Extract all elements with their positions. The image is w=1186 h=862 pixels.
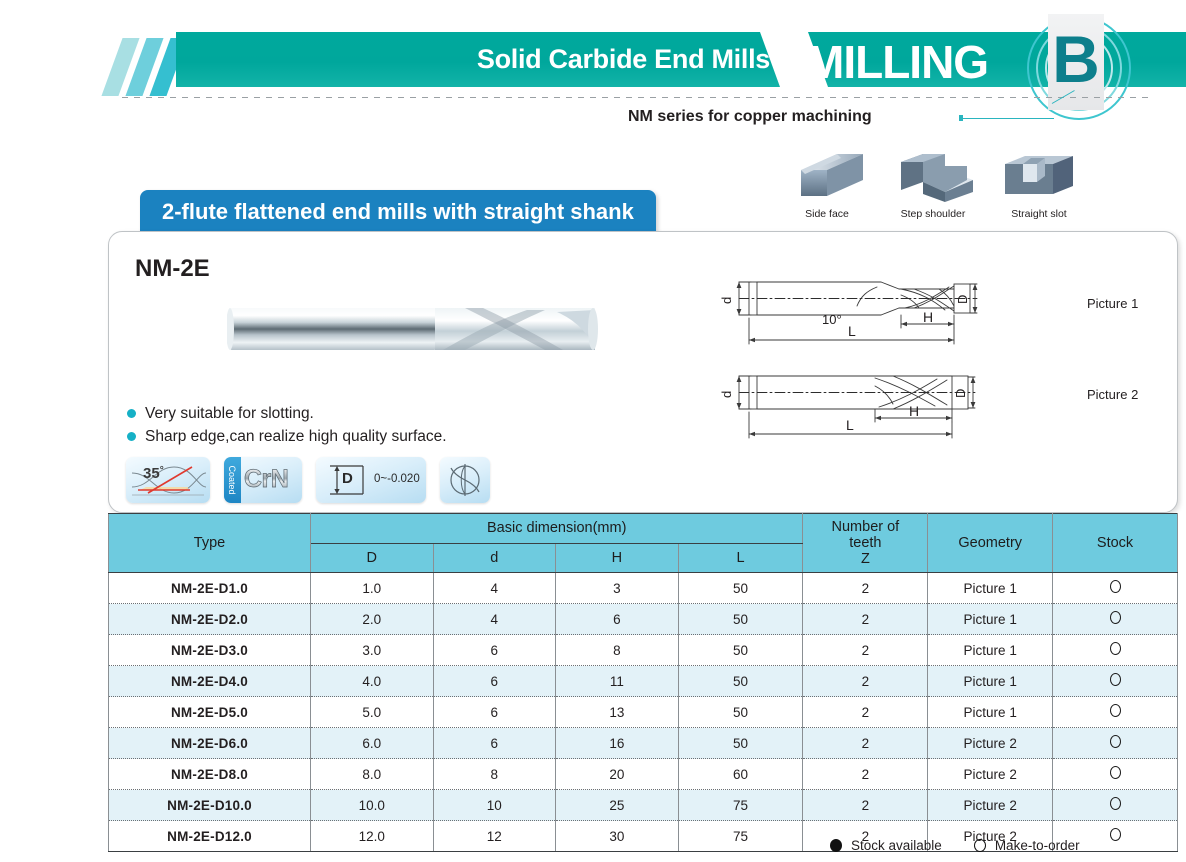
cell-d: 6: [433, 697, 556, 728]
cell-d: 10: [433, 790, 556, 821]
cell-D: 6.0: [310, 728, 433, 759]
cell-D: 12.0: [310, 821, 433, 852]
table-row[interactable]: NM-2E-D5.0 5.0 6 13 50 2 Picture 1: [109, 697, 1178, 728]
cell-L: 50: [678, 697, 803, 728]
cell-H: 30: [556, 821, 679, 852]
drawing-label-L: L: [846, 417, 854, 433]
cell-Z: 2: [803, 697, 928, 728]
application-label: Straight slot: [997, 208, 1081, 220]
step-shoulder-icon: [891, 152, 975, 206]
feature-text: Very suitable for slotting.: [145, 405, 314, 423]
cell-stock: [1053, 604, 1178, 635]
header-subtitle: NM series for copper machining: [628, 108, 872, 126]
application-icons: Side face Step shoulder: [785, 152, 1081, 220]
cell-D: 8.0: [310, 759, 433, 790]
col-header-H: H: [556, 543, 679, 573]
cell-stock: [1053, 790, 1178, 821]
col-header-type: Type: [109, 514, 311, 573]
cell-H: 16: [556, 728, 679, 759]
teeth-symbol: Z: [861, 551, 870, 567]
make-to-order-icon: [1110, 673, 1121, 686]
cell-d: 4: [433, 573, 556, 604]
make-to-order-icon: [1110, 580, 1121, 593]
cell-geometry: Picture 1: [928, 635, 1053, 666]
bullet-dot-icon: [127, 409, 136, 418]
cell-geometry: Picture 2: [928, 759, 1053, 790]
bullet-dot-icon: [127, 432, 136, 441]
cell-geometry: Picture 1: [928, 604, 1053, 635]
cell-Z: 2: [803, 573, 928, 604]
section-tab-letter: B: [1048, 26, 1104, 92]
col-header-d: d: [433, 543, 556, 573]
col-header-D: D: [310, 543, 433, 573]
cell-geometry: Picture 2: [928, 728, 1053, 759]
cell-type: NM-2E-D12.0: [109, 821, 311, 852]
cell-L: 50: [678, 604, 803, 635]
helix-angle-value: 35°: [143, 465, 164, 482]
col-header-geometry: Geometry: [928, 514, 1053, 573]
cell-d: 8: [433, 759, 556, 790]
cell-Z: 2: [803, 604, 928, 635]
coating-icon: Coated CrN: [224, 457, 302, 503]
drawing-label-D: D: [953, 389, 968, 398]
cell-Z: 2: [803, 635, 928, 666]
application-step-shoulder: Step shoulder: [891, 152, 975, 220]
cell-stock: [1053, 635, 1178, 666]
col-header-teeth: Number of teeth Z: [803, 514, 928, 573]
cell-stock: [1053, 697, 1178, 728]
table-head-row-1: Type Basic dimension(mm) Number of teeth…: [109, 514, 1178, 544]
teeth-line-2: teeth: [849, 535, 881, 551]
cell-H: 6: [556, 604, 679, 635]
feature-item: Sharp edge,can realize high quality surf…: [127, 425, 447, 448]
spec-icon-row: 35° Coated CrN D 0~-0.020: [126, 457, 490, 503]
coated-label: Coated: [227, 465, 237, 494]
make-to-order-icon: [974, 839, 986, 852]
cell-d: 6: [433, 666, 556, 697]
cell-Z: 2: [803, 790, 928, 821]
cell-d: 4: [433, 604, 556, 635]
cell-stock: [1053, 666, 1178, 697]
straight-slot-icon: [997, 152, 1081, 206]
cell-geometry: Picture 1: [928, 666, 1053, 697]
product-photo: [227, 292, 637, 367]
specification-table-wrap: Type Basic dimension(mm) Number of teeth…: [108, 513, 1178, 852]
cell-L: 75: [678, 790, 803, 821]
cell-H: 3: [556, 573, 679, 604]
teeth-line-1: Number of: [832, 519, 900, 535]
cell-L: 50: [678, 728, 803, 759]
cell-stock: [1053, 759, 1178, 790]
cell-D: 10.0: [310, 790, 433, 821]
diameter-tolerance-icon: D 0~-0.020: [316, 457, 426, 503]
cell-L: 60: [678, 759, 803, 790]
drawing-label-angle: 10°: [822, 312, 842, 327]
cell-D: 2.0: [310, 604, 433, 635]
col-header-stock: Stock: [1053, 514, 1178, 573]
picture-1-caption: Picture 1: [1087, 296, 1138, 311]
cell-L: 75: [678, 821, 803, 852]
cell-type: NM-2E-D6.0: [109, 728, 311, 759]
application-label: Step shoulder: [891, 208, 975, 220]
coated-strip: Coated: [224, 457, 241, 503]
cell-type: NM-2E-D10.0: [109, 790, 311, 821]
table-row[interactable]: NM-2E-D2.0 2.0 4 6 50 2 Picture 1: [109, 604, 1178, 635]
make-to-order-icon: [1110, 828, 1121, 841]
table-row[interactable]: NM-2E-D1.0 1.0 4 3 50 2 Picture 1: [109, 573, 1178, 604]
banner-title: Solid Carbide End Mills: [420, 44, 770, 75]
table-row[interactable]: NM-2E-D6.0 6.0 6 16 50 2 Picture 2: [109, 728, 1178, 759]
header-dashed-rule: [122, 97, 1154, 98]
technical-drawings: d D H L 10° d D H L Picture 1 Picture 2: [709, 262, 1159, 462]
product-title-bar: 2-flute flattened end mills with straigh…: [140, 190, 656, 233]
make-to-order-icon: [1110, 704, 1121, 717]
cell-d: 6: [433, 635, 556, 666]
specification-table: Type Basic dimension(mm) Number of teeth…: [108, 513, 1178, 852]
cell-H: 25: [556, 790, 679, 821]
cell-D: 4.0: [310, 666, 433, 697]
cell-Z: 2: [803, 759, 928, 790]
make-to-order-icon: [1110, 797, 1121, 810]
cell-H: 8: [556, 635, 679, 666]
cell-type: NM-2E-D4.0: [109, 666, 311, 697]
tolerance-value: 0~-0.020: [374, 473, 420, 485]
cell-type: NM-2E-D2.0: [109, 604, 311, 635]
cell-geometry: Picture 1: [928, 697, 1053, 728]
product-title: 2-flute flattened end mills with straigh…: [162, 199, 634, 225]
feature-item: Very suitable for slotting.: [127, 402, 447, 425]
application-straight-slot: Straight slot: [997, 152, 1081, 220]
cell-H: 13: [556, 697, 679, 728]
cell-d: 12: [433, 821, 556, 852]
cell-H: 20: [556, 759, 679, 790]
tolerance-symbol: D: [342, 470, 353, 487]
cell-Z: 2: [803, 728, 928, 759]
page-header: Solid Carbide End Mills MILLING B NM ser…: [0, 0, 1186, 140]
col-header-basic-dimension: Basic dimension(mm): [310, 514, 802, 544]
coating-value: CrN: [244, 465, 288, 493]
cell-geometry: Picture 1: [928, 573, 1053, 604]
product-card: NM-2E: [108, 231, 1178, 513]
drawing-label-H: H: [923, 309, 933, 325]
cell-d: 6: [433, 728, 556, 759]
make-to-order-icon: [1110, 611, 1121, 624]
picture-2-caption: Picture 2: [1087, 387, 1138, 402]
make-to-order-label: Make-to-order: [995, 838, 1080, 853]
cell-stock: [1053, 573, 1178, 604]
table-row[interactable]: NM-2E-D3.0 3.0 6 8 50 2 Picture 1: [109, 635, 1178, 666]
cell-type: NM-2E-D1.0: [109, 573, 311, 604]
cell-type: NM-2E-D3.0: [109, 635, 311, 666]
cell-stock: [1053, 728, 1178, 759]
cell-L: 50: [678, 666, 803, 697]
cell-L: 50: [678, 573, 803, 604]
cell-L: 50: [678, 635, 803, 666]
cell-H: 11: [556, 666, 679, 697]
cell-type: NM-2E-D5.0: [109, 697, 311, 728]
drawing-label-D: D: [955, 295, 970, 304]
section-word: MILLING: [806, 36, 988, 88]
table-row[interactable]: NM-2E-D8.0 8.0 8 20 60 2 Picture 2: [109, 759, 1178, 790]
stock-legend: Stock available Make-to-order: [830, 838, 1080, 853]
stock-available-icon: [830, 839, 842, 852]
drawing-label-d: d: [719, 297, 734, 304]
drawing-label-L: L: [848, 323, 856, 339]
table-row[interactable]: NM-2E-D4.0 4.0 6 11 50 2 Picture 1: [109, 666, 1178, 697]
table-body: NM-2E-D1.0 1.0 4 3 50 2 Picture 1 NM-2E-…: [109, 573, 1178, 852]
feature-text: Sharp edge,can realize high quality surf…: [145, 428, 447, 446]
feature-list: Very suitable for slotting. Sharp edge,c…: [127, 402, 447, 448]
make-to-order-icon: [1110, 642, 1121, 655]
drawing-label-d: d: [719, 391, 734, 398]
model-name: NM-2E: [135, 255, 210, 283]
cell-geometry: Picture 2: [928, 790, 1053, 821]
flute-section-icon: [440, 457, 490, 503]
table-row[interactable]: NM-2E-D10.0 10.0 10 25 75 2 Picture 2: [109, 790, 1178, 821]
stock-available-label: Stock available: [851, 838, 942, 853]
cell-D: 3.0: [310, 635, 433, 666]
table-head: Type Basic dimension(mm) Number of teeth…: [109, 514, 1178, 573]
drawing-label-H: H: [909, 403, 919, 419]
helix-angle-icon: 35°: [126, 457, 210, 503]
subtitle-connector-line: [962, 118, 1054, 119]
side-face-icon: [785, 152, 869, 206]
make-to-order-icon: [1110, 766, 1121, 779]
cell-Z: 2: [803, 666, 928, 697]
col-header-L: L: [678, 543, 803, 573]
cell-type: NM-2E-D8.0: [109, 759, 311, 790]
application-side-face: Side face: [785, 152, 869, 220]
cell-D: 5.0: [310, 697, 433, 728]
cell-D: 1.0: [310, 573, 433, 604]
application-label: Side face: [785, 208, 869, 220]
make-to-order-icon: [1110, 735, 1121, 748]
